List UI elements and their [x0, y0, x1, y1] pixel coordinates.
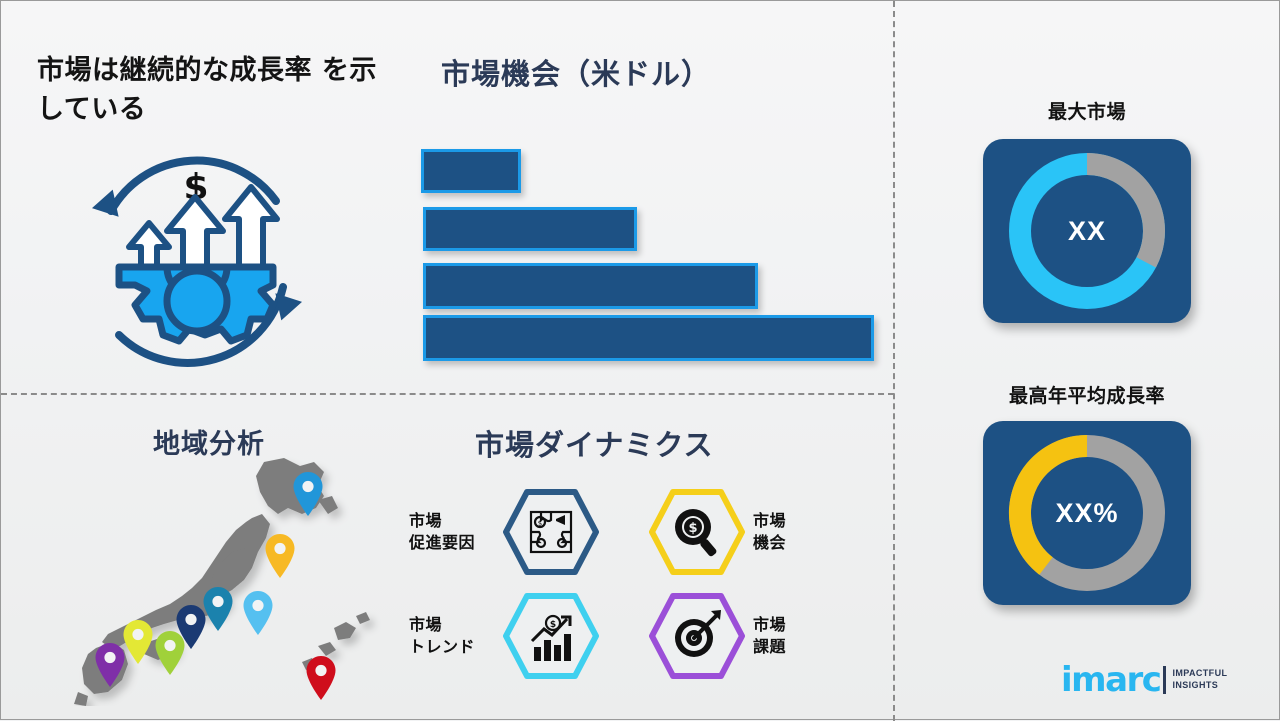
svg-text:$: $	[538, 520, 542, 528]
kpi-title-largest-market: 最大市場	[957, 97, 1217, 124]
kpi-title-highest-cagr: 最高年平均成長率	[957, 381, 1217, 408]
dynamics-label-trends: 市場 トレンド	[409, 614, 495, 657]
dynamics-item-trends[interactable]: 市場 トレンド $	[409, 593, 599, 679]
bar-chart-growth-icon[interactable]: $	[503, 593, 599, 679]
dynamics-item-opportunity[interactable]: $ 市場 機会	[649, 489, 833, 575]
logo-tagline: IMPACTFUL INSIGHTS	[1172, 668, 1227, 691]
logo-wordmark: imarc	[1061, 663, 1160, 697]
pin-kyushu	[93, 642, 127, 688]
pin-chugoku	[153, 630, 187, 676]
donut-chart-largest-market	[983, 139, 1191, 323]
dynamics-title: 市場ダイナミクス	[475, 422, 714, 464]
pin-tohoku	[263, 533, 297, 579]
growth-cycle-gear-icon: $	[71, 139, 321, 371]
kpi-card-highest-cagr: XX%	[983, 421, 1191, 605]
magnifier-dollar-icon[interactable]: $	[649, 489, 745, 575]
kpi-card-largest-market: XX	[983, 139, 1191, 323]
dynamics-label-challenges: 市場 課題	[753, 614, 833, 657]
bar-3	[423, 263, 758, 309]
slide-frame: 市場は継続的な成長率 を示している $	[0, 0, 1280, 720]
horizontal-divider	[1, 393, 894, 395]
target-arrow-icon[interactable]	[649, 593, 745, 679]
puzzle-pieces-icon[interactable]: $	[503, 489, 599, 575]
dynamics-item-challenges[interactable]: 市場 課題	[649, 593, 833, 679]
dynamics-label-drivers: 市場 促進要因	[409, 510, 495, 553]
bar-2	[423, 207, 637, 251]
svg-text:$: $	[688, 521, 697, 536]
logo-divider	[1163, 666, 1166, 694]
opportunity-title: 市場機会（米ドル）	[441, 51, 861, 93]
svg-text:$: $	[550, 620, 556, 630]
dynamics-label-opportunity: 市場 機会	[753, 510, 833, 553]
opportunity-bar-chart	[415, 143, 885, 368]
bar-4	[423, 315, 874, 361]
growth-title: 市場は継続的な成長率 を示している	[37, 51, 397, 129]
pin-hokkaido	[291, 471, 325, 517]
donut-chart-highest-cagr	[983, 421, 1191, 605]
pin-okinawa	[304, 655, 338, 701]
imarc-logo: imarc IMPACTFUL INSIGHTS	[1061, 663, 1227, 697]
bar-1	[421, 149, 521, 193]
dynamics-item-drivers[interactable]: 市場 促進要因 $	[409, 489, 599, 575]
pin-kanto	[241, 590, 275, 636]
vertical-divider	[893, 1, 895, 721]
